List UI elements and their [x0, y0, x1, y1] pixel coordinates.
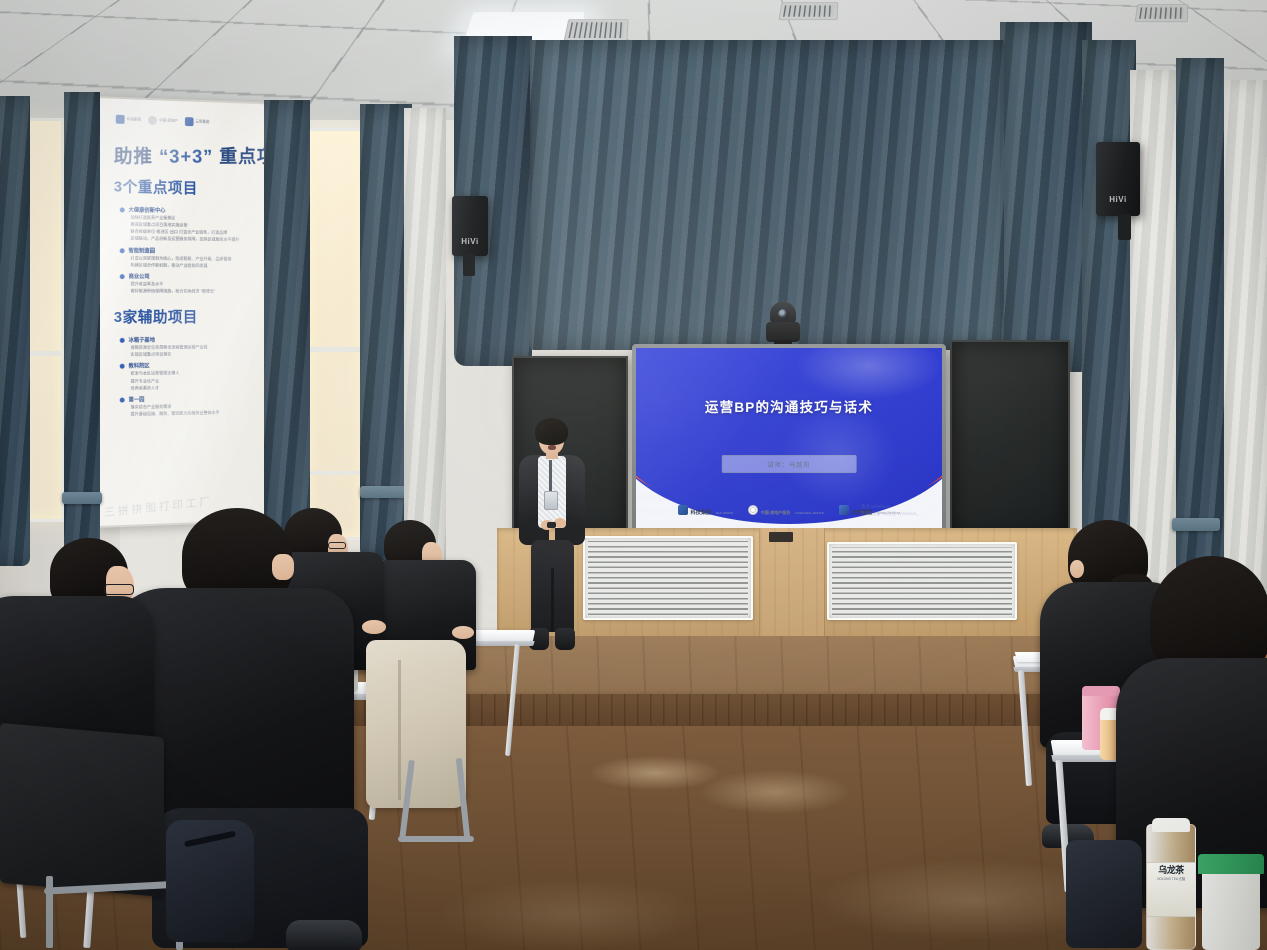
- poster-headline-quote: “3+3”: [159, 147, 213, 168]
- curtain-mid-left: [264, 100, 310, 552]
- speaker-bracket-right: [1118, 214, 1131, 240]
- slide-logo-sub: KEJI GROUP: [716, 512, 734, 515]
- slide-logo-mark: [678, 505, 688, 515]
- blackboard-right: [950, 340, 1070, 540]
- poster-bullet-lines: 落实综合产业服务需求 提升基础设施、服务、管控能力及服务业整体水平: [120, 401, 284, 418]
- tea-bottle-cap: [1152, 818, 1190, 832]
- chair-frame-foreground[interactable]: [46, 876, 53, 948]
- poster-logo-name: 中国·房地产: [159, 119, 178, 124]
- training-room-photo: 科技集团 中国·房地产 云筑集团 助推 “3+3” 重点项目 3个重点项目 大健…: [0, 0, 1267, 950]
- sheer-curtain-left: [404, 108, 446, 568]
- poster-logo-name: 云筑集团: [196, 120, 210, 125]
- camera-mount: [766, 322, 800, 342]
- bag-on-floor-right: [1066, 840, 1142, 948]
- speaker-bracket-left: [463, 254, 475, 276]
- poster-line: 培养高素质人才: [131, 382, 285, 391]
- poster-logo: 中国·房地产: [148, 116, 178, 126]
- windows-activation-watermark: 激活 Windows 转到"设置"以激活 Windows。: [861, 504, 921, 518]
- floor-light-reflection: [700, 770, 850, 814]
- bullet-dot-icon: [120, 274, 125, 279]
- slide-title: 运营BP的沟通技巧与话术: [636, 396, 942, 416]
- floor-light-reflection: [440, 880, 700, 950]
- poster-bullet-title: 冰箱子基地: [129, 336, 155, 344]
- poster-line: 构建区域合作新机制，推动产业链协同发展: [131, 261, 285, 269]
- poster-bullet-title: 智能制造园: [129, 246, 155, 254]
- cabinet-center-door[interactable]: [759, 528, 825, 648]
- poster-bullet-title: 商业公司: [129, 272, 150, 280]
- presenter-id-badge: [544, 491, 558, 510]
- poster-bullet-lines: 提升收益率及水平 做好能源供给保障措施，助力实体经济 “稳增长”: [120, 280, 284, 295]
- ceiling-air-vent: [778, 2, 838, 20]
- slide-speaker-label: 讲师：马越阳: [767, 462, 810, 469]
- presenter-leg-seam: [551, 568, 554, 632]
- bullet-dot-icon: [120, 397, 125, 402]
- pink-thermos-lid: [1082, 686, 1120, 696]
- interactive-display[interactable]: 运营BP的沟通技巧与话术 讲师：马越阳 科技集团 KEJI GROUP 中国·房…: [632, 344, 946, 542]
- poster-logo: 科技集团: [116, 115, 141, 125]
- tea-bottle-label: 乌龙茶 OOLONG TEA 无糖: [1147, 862, 1195, 917]
- poster-logo-mark: [116, 115, 125, 124]
- wall-poster: 科技集团 中国·房地产 云筑集团 助推 “3+3” 重点项目 3个重点项目 大健…: [96, 96, 286, 528]
- presenter-boot-right: [555, 628, 575, 650]
- poster-headline-prefix: 助推: [114, 147, 153, 168]
- poster-logo-mark: [148, 116, 157, 125]
- coat-fold-shadow: [398, 660, 401, 800]
- oolong-tea-bottle: 乌龙茶 OOLONG TEA 无糖: [1146, 824, 1196, 950]
- curtain-right-inner: [1082, 40, 1136, 600]
- window-left: [306, 128, 364, 540]
- poster-bullet-lines: 保障资源全生命周期全流程管理运营产业链 实现区域重点项目落实: [120, 343, 284, 358]
- wall-speaker-right: HiVi: [1096, 142, 1140, 216]
- bullet-dot-icon: [120, 207, 125, 212]
- watermark-line-2: 转到"设置"以激活 Windows。: [861, 511, 921, 518]
- ceiling-air-vent: [564, 19, 629, 41]
- poster-line: 实现区域重点项目落实: [131, 350, 285, 358]
- speaker-brand-label: HiVi: [1096, 195, 1140, 204]
- presentation-clicker[interactable]: [547, 522, 556, 528]
- poster-bullet-title: 教科院区: [129, 362, 150, 370]
- attendee-glasses: [104, 584, 134, 595]
- tea-bottle-sub: OOLONG TEA 无糖: [1147, 876, 1195, 881]
- bullet-dot-icon: [120, 248, 125, 253]
- slide-logo-mark: [748, 505, 758, 515]
- poster-line: 做好能源供给保障措施，助力实体经济 “稳增长”: [131, 287, 285, 295]
- poster-bullet-lines: 加快打造医养产业集聚区 推进区域重点项目落地实施运营 联合各级单位·推进区·出口…: [120, 213, 284, 243]
- attendee-ear: [272, 554, 294, 580]
- ptz-conference-camera: [762, 302, 806, 350]
- bullet-dot-icon: [120, 338, 125, 343]
- poster-bullet-lines: 研发与本区运营管理支撑人 提升专业化产业 培养高素质人才: [120, 368, 284, 391]
- slide-bg-blue-arc: [636, 348, 942, 520]
- poster-headline: 助推 “3+3” 重点项目: [98, 126, 284, 169]
- mesh-chair-back[interactable]: [0, 723, 164, 897]
- floor-light-reflection: [590, 756, 720, 790]
- green-lid-cup: [1202, 862, 1260, 950]
- poster-line: 提升基础设施、服务、管控能力及服务业整体水平: [131, 408, 285, 418]
- tea-bottle-name: 乌龙茶: [1147, 863, 1195, 875]
- slide-logo-sub: CHINA REAL ESTATE: [795, 512, 824, 515]
- presenter-lanyard: [549, 460, 552, 494]
- poster-logo-name: 科技集团: [127, 117, 141, 122]
- curtain-center-right: [1000, 22, 1092, 372]
- presenter-hair: [535, 418, 568, 445]
- slide-speaker-box: 讲师：马越阳: [722, 455, 857, 473]
- curtain-left-inner: [64, 92, 100, 612]
- poster-group-one: 大健康创新中心 加快打造医养产业集聚区 推进区域重点项目落地实施运营 联合各级单…: [98, 196, 284, 295]
- attendee-hand: [452, 626, 474, 639]
- presenter-mouth: [548, 445, 556, 450]
- bullet-dot-icon: [120, 364, 125, 369]
- cabinet-port-panel[interactable]: [769, 532, 793, 542]
- slide-logo: 科技集团 KEJI GROUP: [678, 501, 733, 519]
- display-screen[interactable]: 运营BP的沟通技巧与话术 讲师：马越阳 科技集团 KEJI GROUP 中国·房…: [636, 348, 942, 531]
- poster-line: 区域联动，产品创新及运营服务保障，加快区域服务水平提升: [131, 235, 285, 244]
- curtain-far-left: [0, 96, 30, 566]
- attendee-shoe: [286, 920, 362, 950]
- wall-speaker-left: HiVi: [452, 196, 488, 256]
- radiator-cover-right: [827, 542, 1017, 620]
- poster-group-two: 冰箱子基地 保障资源全生命周期全流程管理运营产业链 实现区域重点项目落实 教科院…: [98, 327, 284, 418]
- radiator-cover-left: [583, 536, 753, 620]
- slide-logo-text: 科技集团 KEJI GROUP: [690, 501, 733, 519]
- poster-logo-row: 科技集团 中国·房地产 云筑集团: [98, 98, 284, 129]
- chair-frame-row2-base[interactable]: [398, 836, 474, 842]
- slide-logo-name: 中国·房地产服务: [761, 510, 790, 515]
- poster-bullet-lines: 打造以双碳规划为核心，形成智能、产业升级、品质管理 构建区域合作新机制，推动产业…: [120, 254, 284, 269]
- cup-lid: [1198, 854, 1264, 874]
- poster-section-two: 3家辅助项目: [98, 294, 284, 327]
- curtain-tieback-left: [62, 492, 102, 504]
- slide-logo-mark: [839, 505, 849, 515]
- speaker-brand-label: HiVi: [452, 237, 488, 246]
- ceiling-air-vent: [1135, 4, 1189, 22]
- slide-logo: 中国·房地产服务 CHINA REAL ESTATE: [748, 501, 823, 519]
- poster-section-one: 3个重点项目: [98, 166, 284, 200]
- curtain-tieback-mid: [360, 486, 406, 498]
- camera-lens-icon: [778, 309, 789, 320]
- attendee-ear: [1070, 560, 1084, 578]
- poster-logo-mark: [185, 117, 194, 126]
- poster-bullet-title: 第一园: [129, 395, 145, 403]
- slide-logo-text: 中国·房地产服务 CHINA REAL ESTATE: [761, 501, 824, 519]
- slide-logo-name: 科技集团: [690, 510, 711, 516]
